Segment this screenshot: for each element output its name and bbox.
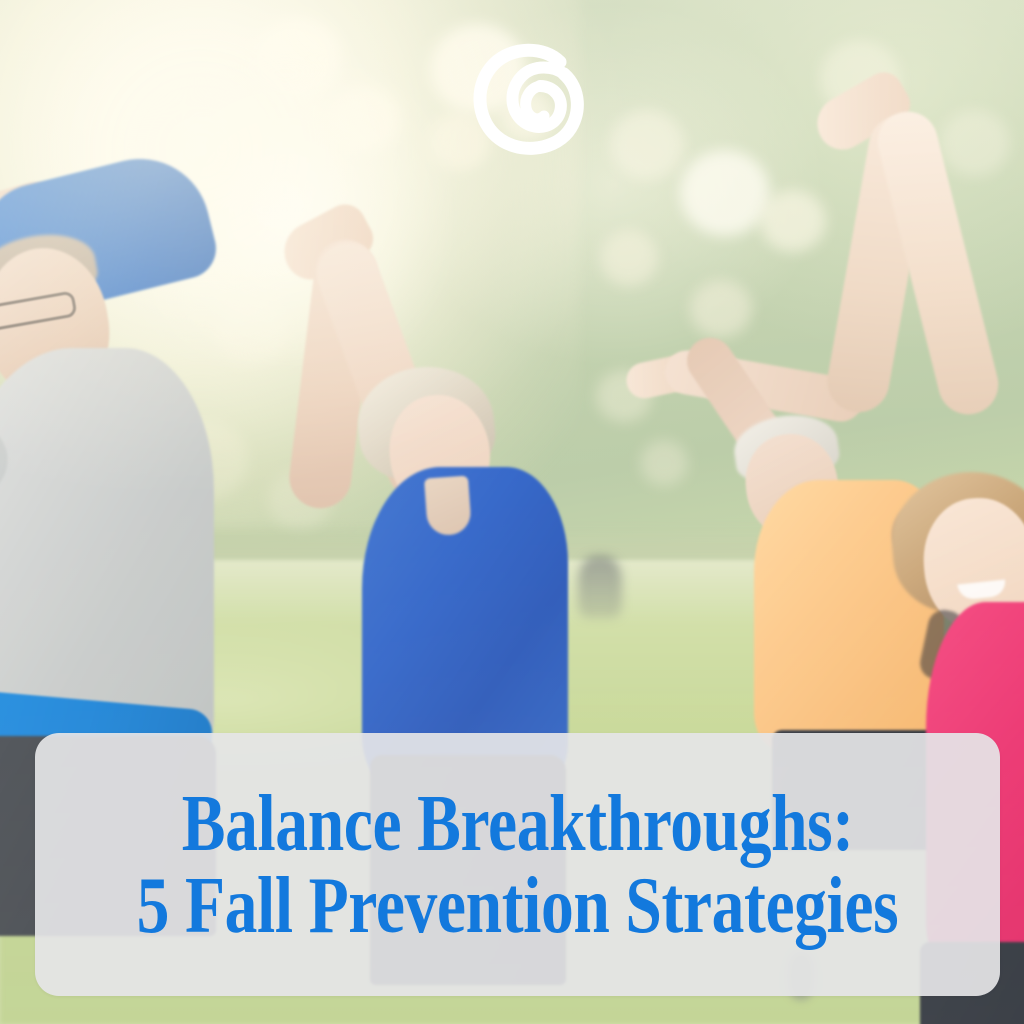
bokeh-highlight: [680, 150, 770, 236]
promo-graphic: Balance Breakthroughs: 5 Fall Prevention…: [0, 0, 1024, 1024]
distant-figure: [578, 556, 622, 618]
title-line-2: 5 Fall Prevention Strategies: [137, 868, 899, 944]
person-1-man-gray-shirt: [0, 170, 260, 770]
bokeh-highlight: [600, 230, 658, 286]
title-line-1: Balance Breakthroughs:: [182, 786, 854, 862]
person-2-vneck: [424, 476, 472, 537]
title-card: Balance Breakthroughs: 5 Fall Prevention…: [35, 733, 1000, 996]
spiral-swirl-logo: [468, 32, 592, 164]
person-4-woman-pink-tank: [800, 62, 1024, 762]
bokeh-highlight: [610, 110, 684, 180]
person-2-woman-blue-top: [278, 215, 578, 775]
